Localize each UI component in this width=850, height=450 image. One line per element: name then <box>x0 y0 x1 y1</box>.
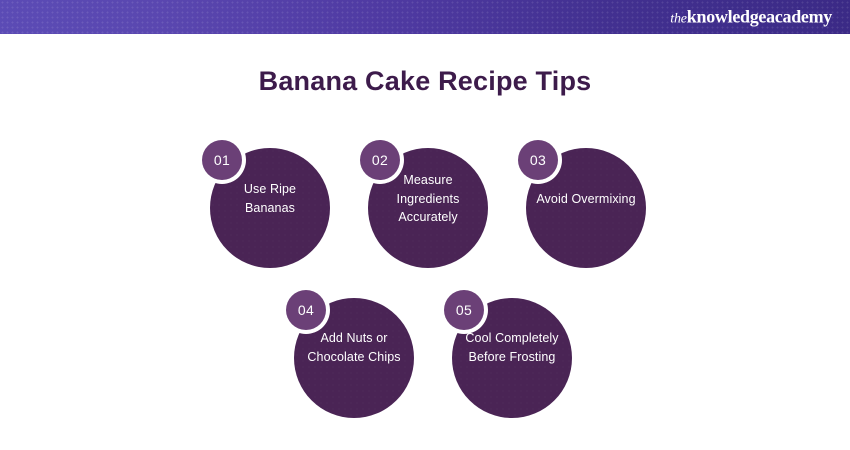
brand-logo: theknowledgeacademy <box>670 8 832 27</box>
tips-diagram: Use Ripe Bananas 01 Measure Ingredients … <box>0 0 850 450</box>
tip-label-1: Use Ripe Bananas <box>218 180 322 218</box>
tip-badge-2: 02 <box>360 140 400 180</box>
brand-name-text: knowledgeacademy <box>687 7 832 27</box>
tip-badge-ring-5: 05 <box>440 286 488 334</box>
tip-node-2[interactable]: Measure Ingredients Accurately 02 <box>368 148 488 268</box>
tip-badge-3: 03 <box>518 140 558 180</box>
tip-label-3: Avoid Overmixing <box>536 190 635 209</box>
tip-badge-1: 01 <box>202 140 242 180</box>
tip-badge-ring-1: 01 <box>198 136 246 184</box>
tip-badge-4: 04 <box>286 290 326 330</box>
tip-label-5: Cool Completely Before Frosting <box>460 329 564 367</box>
tip-badge-ring-2: 02 <box>356 136 404 184</box>
tip-badge-5: 05 <box>444 290 484 330</box>
tip-node-3[interactable]: Avoid Overmixing 03 <box>526 148 646 268</box>
tip-node-4[interactable]: Add Nuts or Chocolate Chips 04 <box>294 298 414 418</box>
tip-node-5[interactable]: Cool Completely Before Frosting 05 <box>452 298 572 418</box>
tip-badge-ring-4: 04 <box>282 286 330 334</box>
tip-badge-ring-3: 03 <box>514 136 562 184</box>
tip-label-4: Add Nuts or Chocolate Chips <box>302 329 406 367</box>
tip-node-1[interactable]: Use Ripe Bananas 01 <box>210 148 330 268</box>
brand-prefix-text: the <box>670 12 687 27</box>
